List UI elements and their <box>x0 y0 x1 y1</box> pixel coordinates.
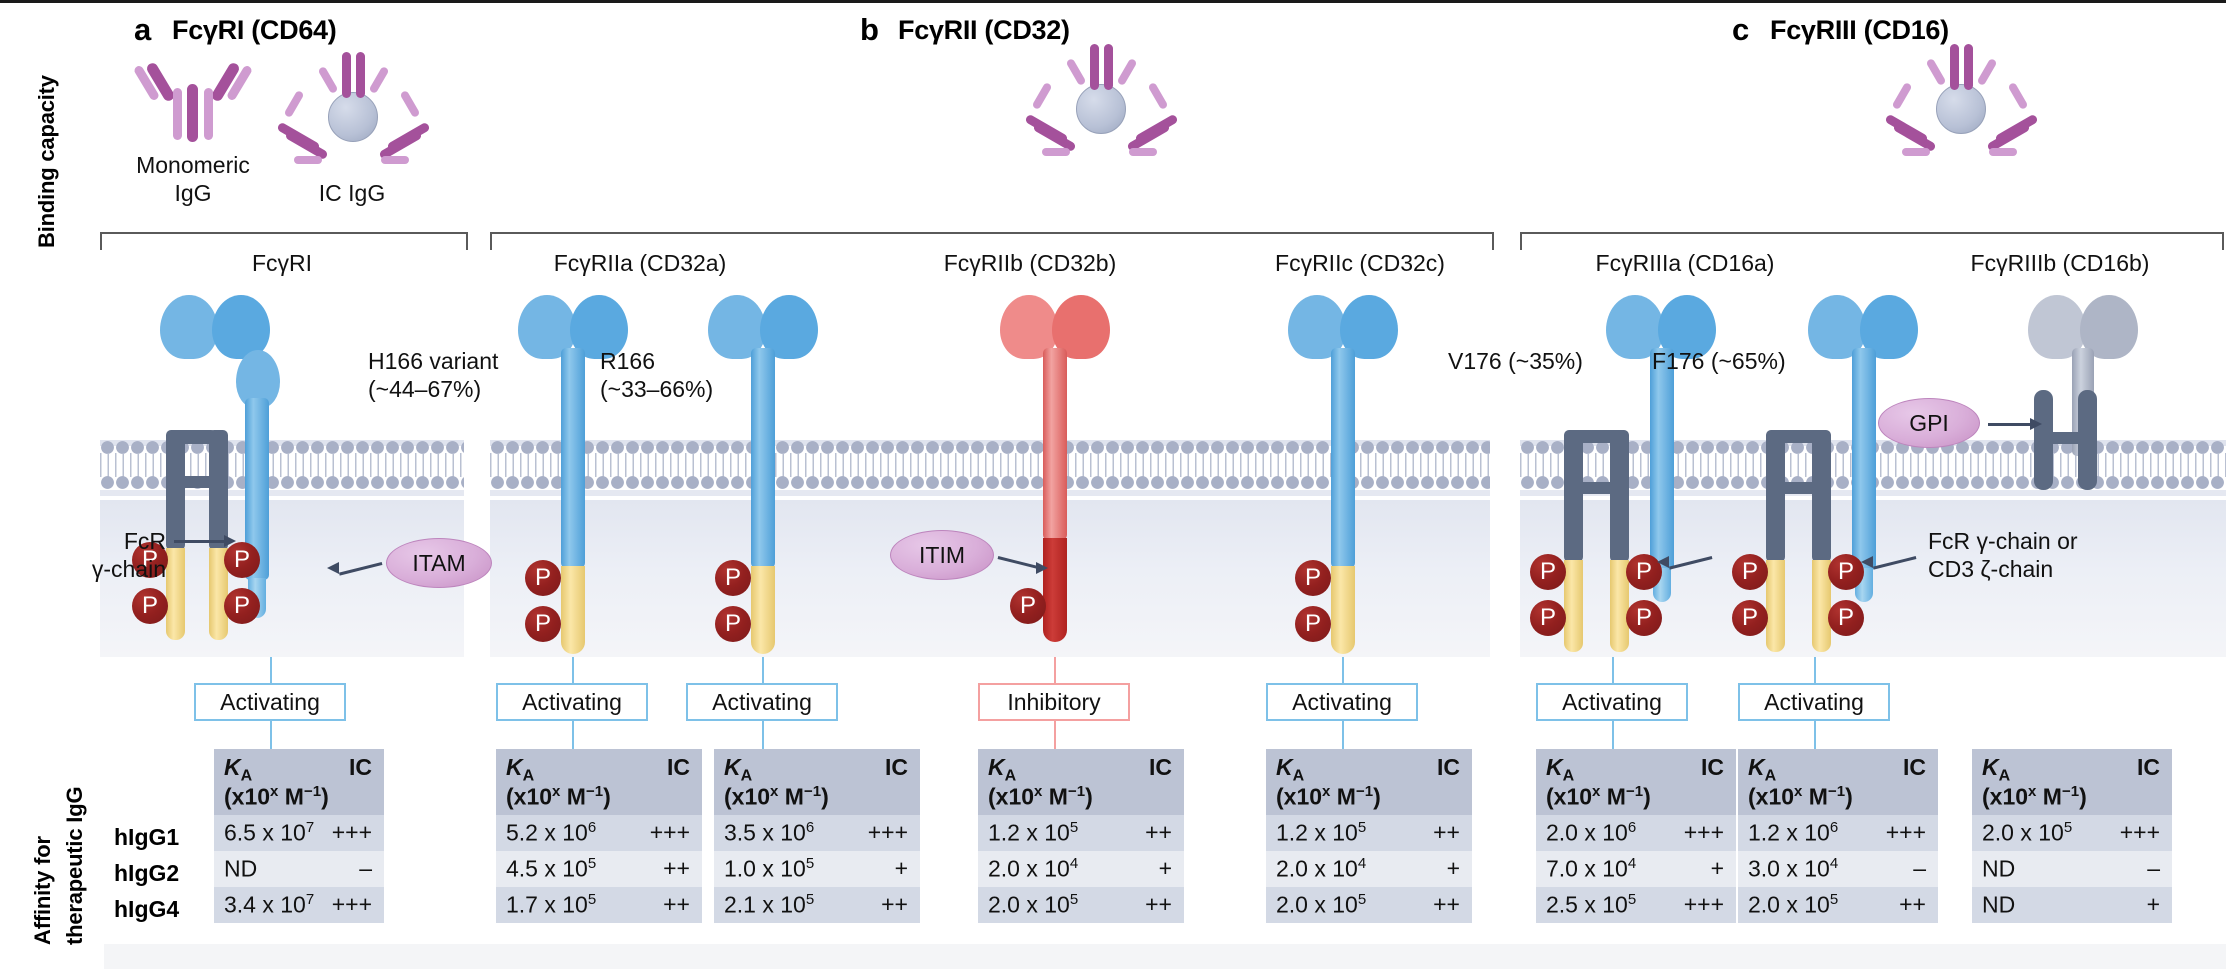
cell-ic: +++ <box>650 819 690 846</box>
arrow-itam-head <box>327 562 339 574</box>
cell-ic: ++ <box>1145 891 1172 918</box>
receptor-name-fcgriia: FcγRIIa (CD32a) <box>490 250 790 277</box>
cell-ic: ++ <box>663 891 690 918</box>
side-label-affinity-line2: therapeutic IgG <box>62 787 88 945</box>
cell-ka: 7.0 x 104 <box>1546 855 1636 883</box>
arrow-gpi <box>1988 423 2032 426</box>
arrow-itim-head <box>1036 562 1048 574</box>
top-rule <box>0 0 2226 3</box>
phospho-p-icon: P <box>525 560 561 596</box>
cell-ka: 2.0 x 105 <box>1748 891 1838 919</box>
cell-ic: +++ <box>2120 819 2160 846</box>
cell-ic: + <box>895 855 908 882</box>
cell-ka: 2.0 x 104 <box>988 855 1078 883</box>
phospho-p-icon: P <box>224 542 260 578</box>
cell-ka: ND <box>224 855 257 883</box>
table-header: KA (x10x M−1) IC <box>1536 749 1736 815</box>
cell-ka: ND <box>1982 855 2015 883</box>
table-row-label-higg4: hIgG4 <box>114 896 179 923</box>
footer-bar <box>104 944 2226 969</box>
table-header-ic: IC <box>667 754 690 781</box>
cell-ic: – <box>359 855 372 882</box>
panel-letter-c: c <box>1732 12 1749 48</box>
table-header: KA (x10x M−1) IC <box>714 749 920 815</box>
arrow-fcr-gamma <box>174 540 226 543</box>
table-row: 1.2 x 106+++ <box>1738 815 1938 851</box>
cell-ic: +++ <box>332 819 372 846</box>
receptor-fcgriiib-glyph <box>1990 290 2190 550</box>
cell-ka: 3.0 x 104 <box>1748 855 1838 883</box>
bracket-panel-c <box>1520 232 2224 250</box>
table-row: ND– <box>214 851 384 887</box>
cell-ka: 3.5 x 106 <box>724 819 814 847</box>
cell-ic: – <box>2147 855 2160 882</box>
gpi-badge: GPI <box>1878 398 1980 448</box>
bracket-panel-b <box>490 232 1494 250</box>
affinity-table-fcgriia-r166: KA (x10x M−1) IC 3.5 x 106+++ 1.0 x 105+… <box>714 749 920 923</box>
table-header-units: (x10x M−1) <box>1546 783 1651 811</box>
connector-status-r166-top <box>762 657 764 683</box>
table-header-ic: IC <box>1437 754 1460 781</box>
affinity-table-fcgriia-h166: KA (x10x M−1) IC 5.2 x 106+++ 4.5 x 105+… <box>496 749 702 923</box>
cell-ic: ++ <box>1899 891 1926 918</box>
itim-badge: ITIM <box>890 530 994 580</box>
receptor-fcgriia-h166-glyph: P P <box>518 290 718 660</box>
cell-ic: – <box>1913 855 1926 882</box>
arrow-fcr-gamma-head <box>224 535 236 547</box>
phospho-p-icon: P <box>132 588 168 624</box>
table-header-ka: KA <box>1276 754 1304 786</box>
monomeric-igg-label-line1: Monomeric <box>98 152 288 179</box>
phospho-p-icon: P <box>1295 606 1331 642</box>
connector-status-fcgriib-bottom <box>1054 721 1056 749</box>
table-header-units: (x10x M−1) <box>1276 783 1381 811</box>
cell-ic: ++ <box>1433 891 1460 918</box>
table-row: 2.0 x 105++ <box>978 887 1184 923</box>
variant-label-v176: V176 (~35%) <box>1448 348 1668 375</box>
table-row: 3.0 x 104– <box>1738 851 1938 887</box>
table-header-ka: KA <box>506 754 534 786</box>
table-header-ic: IC <box>1149 754 1172 781</box>
table-header-units: (x10x M−1) <box>988 783 1093 811</box>
table-header-ic: IC <box>1903 754 1926 781</box>
connector-status-f176-top <box>1814 657 1816 683</box>
table-row: 7.0 x 104+ <box>1536 851 1736 887</box>
side-label-affinity-line1: Affinity for <box>30 836 56 945</box>
table-row: 5.2 x 106+++ <box>496 815 702 851</box>
cell-ic: +++ <box>332 891 372 918</box>
phospho-p-icon: P <box>1010 588 1046 624</box>
table-header-ka: KA <box>724 754 752 786</box>
table-header-units: (x10x M−1) <box>1748 783 1853 811</box>
table-row: 3.4 x 107+++ <box>214 887 384 923</box>
cell-ka: 2.0 x 106 <box>1546 819 1636 847</box>
phospho-p-icon: P <box>1732 554 1768 590</box>
affinity-table-fcgri: KA (x10x M−1) IC 6.5 x 107+++ ND– 3.4 x … <box>214 749 384 923</box>
cell-ic: ++ <box>663 855 690 882</box>
table-row: 2.1 x 105++ <box>714 887 920 923</box>
table-header: KA (x10x M−1) IC <box>496 749 702 815</box>
annotation-fcr-gamma-line1: FcR <box>76 528 166 555</box>
variant-label-h166-line1: H166 variant <box>368 348 558 375</box>
cell-ic: + <box>1159 855 1172 882</box>
variant-label-r166-line1: R166 <box>600 348 760 375</box>
status-box-fcgriiia-f176: Activating <box>1738 683 1890 721</box>
affinity-table-fcgriic: KA (x10x M−1) IC 1.2 x 105++ 2.0 x 104+ … <box>1266 749 1472 923</box>
table-header-ic: IC <box>349 754 372 781</box>
cell-ka: 1.2 x 105 <box>1276 819 1366 847</box>
table-row: ND+ <box>1972 887 2172 923</box>
phospho-p-icon: P <box>525 606 561 642</box>
table-row: 3.5 x 106+++ <box>714 815 920 851</box>
cell-ka: 1.2 x 106 <box>1748 819 1838 847</box>
table-row-label-higg2: hIgG2 <box>114 860 179 887</box>
table-header: KA (x10x M−1) IC <box>214 749 384 815</box>
connector-status-f176-bottom <box>1814 721 1816 749</box>
table-row: 4.5 x 105++ <box>496 851 702 887</box>
panel-title-a: FcγRI (CD64) <box>172 15 336 46</box>
connector-status-fcgri-bottom <box>270 721 272 749</box>
status-box-fcgri: Activating <box>194 683 346 721</box>
table-header: KA (x10x M−1) IC <box>978 749 1184 815</box>
table-header: KA (x10x M−1) IC <box>1738 749 1938 815</box>
phospho-p-icon: P <box>715 606 751 642</box>
table-row: 2.0 x 105++ <box>1266 887 1472 923</box>
cell-ka: 2.0 x 105 <box>1276 891 1366 919</box>
cell-ka: 1.7 x 105 <box>506 891 596 919</box>
cell-ic: + <box>2147 891 2160 918</box>
monomeric-igg-label-line2: IgG <box>98 180 288 207</box>
table-row: 1.2 x 105++ <box>1266 815 1472 851</box>
cell-ic: + <box>1447 855 1460 882</box>
phospho-p-icon: P <box>224 588 260 624</box>
cell-ic: ++ <box>881 891 908 918</box>
panel-letter-b: b <box>860 12 879 48</box>
connector-status-fcgriic-top <box>1342 657 1344 683</box>
receptor-name-fcgriiia: FcγRIIIa (CD16a) <box>1520 250 1850 277</box>
status-box-fcgriia-r166: Activating <box>686 683 838 721</box>
table-header-ka: KA <box>1748 754 1776 786</box>
status-box-fcgriic: Activating <box>1266 683 1418 721</box>
phospho-p-icon: P <box>1530 554 1566 590</box>
variant-label-h166-line2: (~44–67%) <box>368 376 558 403</box>
ic-igg-glyph-c <box>1880 42 2040 152</box>
receptor-name-fcgriib: FcγRIIb (CD32b) <box>870 250 1190 277</box>
receptor-fcgriia-r166-glyph: P P <box>708 290 908 660</box>
table-header-units: (x10x M−1) <box>724 783 829 811</box>
table-header-ka: KA <box>988 754 1016 786</box>
cell-ka: 2.0 x 105 <box>1982 819 2072 847</box>
cell-ka: 3.4 x 107 <box>224 891 314 919</box>
affinity-table-fcgriiia-f176: KA (x10x M−1) IC 1.2 x 106+++ 3.0 x 104–… <box>1738 749 1938 923</box>
connector-status-fcgri-top <box>270 657 272 683</box>
table-header-units: (x10x M−1) <box>224 783 329 811</box>
table-row: 2.0 x 105+++ <box>1972 815 2172 851</box>
cell-ka: 5.2 x 106 <box>506 819 596 847</box>
receptor-fcgri-glyph: P P P P <box>160 280 400 660</box>
affinity-table-fcgriib: KA (x10x M−1) IC 1.2 x 105++ 2.0 x 104+ … <box>978 749 1184 923</box>
table-row: 2.0 x 105++ <box>1738 887 1938 923</box>
receptor-name-fcgri: FcγRI <box>182 250 382 277</box>
receptor-fcgriic-glyph: P P <box>1288 290 1488 660</box>
cell-ka: ND <box>1982 891 2015 919</box>
table-row: 1.7 x 105++ <box>496 887 702 923</box>
figure-canvas: Binding capacity Affinity for therapeuti… <box>0 0 2226 969</box>
table-header-ic: IC <box>1701 754 1724 781</box>
table-header: KA (x10x M−1) IC <box>1972 749 2172 815</box>
table-row: 2.5 x 105+++ <box>1536 887 1736 923</box>
connector-status-r166-bottom <box>762 721 764 749</box>
connector-status-v176-top <box>1612 657 1614 683</box>
table-header-ka: KA <box>1546 754 1574 786</box>
table-header-units: (x10x M−1) <box>506 783 611 811</box>
cell-ka: 1.2 x 105 <box>988 819 1078 847</box>
annotation-fcr-or-cd3-line2: CD3 ζ-chain <box>1928 556 2218 583</box>
table-row-label-higg1: hIgG1 <box>114 824 179 851</box>
phospho-p-icon: P <box>1295 560 1331 596</box>
phospho-p-icon: P <box>1828 600 1864 636</box>
table-header-ka: KA <box>224 754 252 786</box>
cell-ka: 2.0 x 105 <box>988 891 1078 919</box>
cell-ka: 2.0 x 104 <box>1276 855 1366 883</box>
table-header-ka: KA <box>1982 754 2010 786</box>
connector-status-v176-bottom <box>1612 721 1614 749</box>
table-row: 6.5 x 107+++ <box>214 815 384 851</box>
ic-igg-glyph-a <box>272 50 432 160</box>
itam-badge: ITAM <box>386 538 492 588</box>
table-row: 1.0 x 105+ <box>714 851 920 887</box>
cell-ic: +++ <box>1684 819 1724 846</box>
ic-igg-label-a: IC IgG <box>262 180 442 207</box>
phospho-p-icon: P <box>1626 600 1662 636</box>
affinity-table-fcgriiib: KA (x10x M−1) IC 2.0 x 105+++ ND– ND+ <box>1972 749 2172 923</box>
table-row: ND– <box>1972 851 2172 887</box>
variant-label-r166-line2: (~33–66%) <box>600 376 780 403</box>
connector-status-h166-top <box>572 657 574 683</box>
cell-ka: 4.5 x 105 <box>506 855 596 883</box>
affinity-table-fcgriiia-v176: KA (x10x M−1) IC 2.0 x 106+++ 7.0 x 104+… <box>1536 749 1736 923</box>
status-box-fcgriiia-v176: Activating <box>1536 683 1688 721</box>
receptor-name-fcgriic: FcγRIIc (CD32c) <box>1200 250 1520 277</box>
table-header-ic: IC <box>885 754 908 781</box>
phospho-p-icon: P <box>715 560 751 596</box>
phospho-p-icon: P <box>1530 600 1566 636</box>
cell-ic: +++ <box>1684 891 1724 918</box>
cell-ka: 2.5 x 105 <box>1546 891 1636 919</box>
cell-ic: ++ <box>1433 819 1460 846</box>
annotation-fcr-gamma-line2: γ-chain <box>56 556 166 583</box>
table-row: 2.0 x 106+++ <box>1536 815 1736 851</box>
phospho-p-icon: P <box>1828 554 1864 590</box>
table-header: KA (x10x M−1) IC <box>1266 749 1472 815</box>
variant-label-f176: F176 (~65%) <box>1652 348 1872 375</box>
table-row: 2.0 x 104+ <box>978 851 1184 887</box>
cell-ic: +++ <box>868 819 908 846</box>
cell-ka: 6.5 x 107 <box>224 819 314 847</box>
connector-status-fcgriib-top <box>1054 657 1056 683</box>
side-label-binding-capacity: Binding capacity <box>34 75 60 248</box>
cell-ka: 2.1 x 105 <box>724 891 814 919</box>
connector-status-fcgriic-bottom <box>1342 721 1344 749</box>
cell-ic: + <box>1711 855 1724 882</box>
table-header-units: (x10x M−1) <box>1982 783 2087 811</box>
table-header-ic: IC <box>2137 754 2160 781</box>
receptor-fcgriib-glyph: P <box>1000 290 1200 660</box>
panel-letter-a: a <box>134 12 151 48</box>
ic-igg-glyph-b <box>1020 42 1180 152</box>
status-box-fcgriia-h166: Activating <box>496 683 648 721</box>
cell-ic: ++ <box>1145 819 1172 846</box>
phospho-p-icon: P <box>1732 600 1768 636</box>
connector-status-h166-bottom <box>572 721 574 749</box>
monomeric-igg-glyph <box>128 58 258 144</box>
receptor-fcgriiia-f176-glyph: P P P P <box>1760 290 2000 660</box>
table-row: 1.2 x 105++ <box>978 815 1184 851</box>
bracket-panel-a <box>100 232 468 250</box>
arrow-gamma-v176-head <box>1657 556 1669 568</box>
arrow-gamma-f176-head <box>1861 556 1873 568</box>
receptor-name-fcgriiib: FcγRIIIb (CD16b) <box>1900 250 2220 277</box>
status-box-fcgriib: Inhibitory <box>978 683 1130 721</box>
cell-ka: 1.0 x 105 <box>724 855 814 883</box>
arrow-gpi-head <box>2030 418 2042 430</box>
table-row: 2.0 x 104+ <box>1266 851 1472 887</box>
cell-ic: +++ <box>1886 819 1926 846</box>
